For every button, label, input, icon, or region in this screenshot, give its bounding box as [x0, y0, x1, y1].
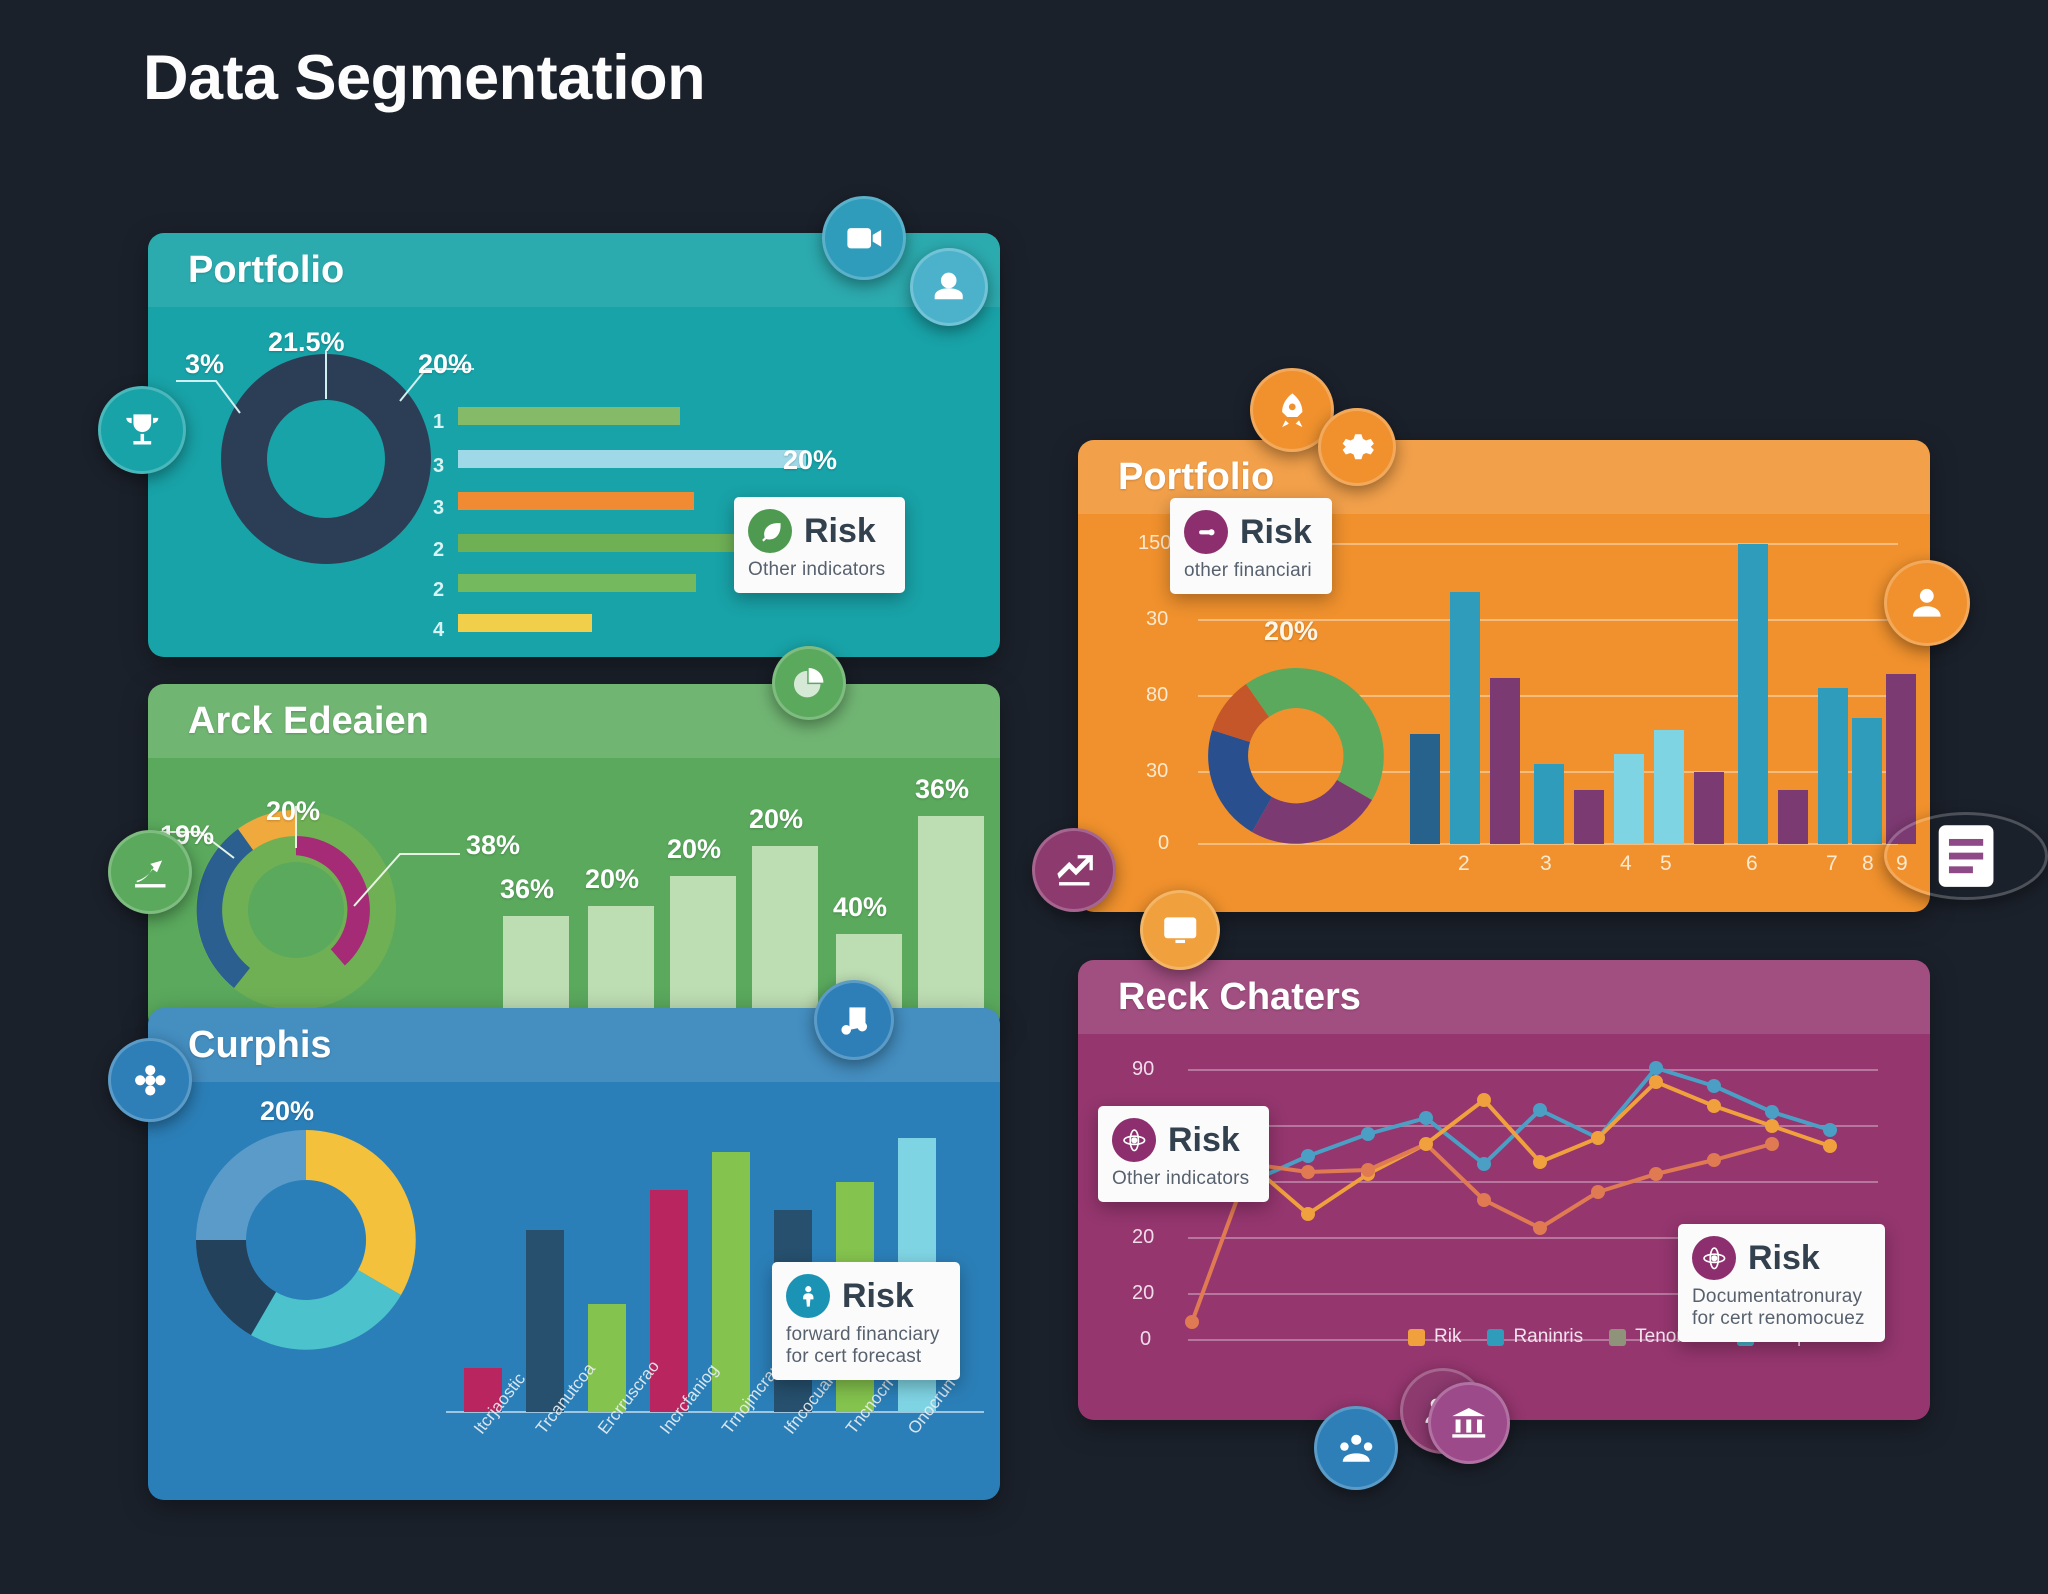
- globe-icon[interactable]: [910, 248, 988, 326]
- legend-swatch: [1609, 1329, 1626, 1346]
- tooltip-title: Risk: [804, 512, 876, 551]
- risk-tooltip[interactable]: Risk forward financiary for cert forecas…: [772, 1262, 960, 1380]
- bar-label-5: 40%: [833, 892, 887, 923]
- card-title: Curphis: [188, 1024, 332, 1067]
- risk-tooltip-right[interactable]: Risk Documentatronuray for cert renomocu…: [1678, 1224, 1885, 1342]
- tooltip-subtitle: Other indicators: [748, 559, 885, 581]
- card-portfolio-teal[interactable]: Portfolio 3% 21.5% 20% 1 3 3 2 2 4: [148, 233, 1000, 657]
- x-tick: 2: [1458, 852, 1470, 876]
- bar-label-2: 20%: [585, 864, 639, 895]
- legend-item[interactable]: Rik: [1408, 1326, 1461, 1348]
- user-icon[interactable]: [1884, 560, 1970, 646]
- card-curphis[interactable]: Curphis 20%: [148, 1008, 1000, 1500]
- card-body: 20% Itcrjaostic Trcanutcoa Ercrruscrao I…: [148, 1082, 1000, 1500]
- tooltip-subtitle: other financiari: [1184, 560, 1312, 582]
- card-arck-edeaien[interactable]: Arck Edeaien 19% 20% 38%: [148, 684, 1000, 1032]
- tooltip-title: Risk: [1748, 1239, 1820, 1278]
- teal-horizontal-bars: [148, 307, 1000, 657]
- music-icon[interactable]: [814, 980, 894, 1060]
- atom-icon: [1692, 1236, 1736, 1280]
- monitor-icon[interactable]: [1140, 890, 1220, 970]
- dashboard-canvas: Data Segmentation Portfolio 3% 21.5% 20%…: [0, 0, 2048, 1594]
- card-portfolio-orange[interactable]: Portfolio 150 30 80 30 0: [1078, 440, 1930, 912]
- legend-label: Rik: [1434, 1326, 1461, 1348]
- card-title: Arck Edeaien: [188, 700, 429, 743]
- card-header: Reck Chaters: [1078, 960, 1930, 1034]
- bar-label-6: 36%: [915, 774, 969, 805]
- x-tick: 7: [1826, 852, 1838, 876]
- x-tick: 3: [1540, 852, 1552, 876]
- tooltip-subtitle: forward financiary for cert forecast: [786, 1324, 940, 1368]
- video-icon[interactable]: [822, 196, 906, 280]
- leaf-icon: [748, 509, 792, 553]
- flower-icon[interactable]: [108, 1038, 192, 1122]
- x-tick: 6: [1746, 852, 1758, 876]
- legend-swatch: [1487, 1329, 1504, 1346]
- gear-icon[interactable]: [1318, 408, 1396, 486]
- bar-value-label: 20%: [783, 445, 837, 476]
- pie-chart-icon[interactable]: [772, 646, 846, 720]
- person-icon: [786, 1274, 830, 1318]
- legend-label: Raninris: [1513, 1326, 1583, 1348]
- card-body: 150 30 80 30 0 20%: [1078, 514, 1930, 912]
- tooltip-subtitle: Documentatronuray for cert renomocuez: [1692, 1286, 1865, 1330]
- page-title: Data Segmentation: [143, 42, 705, 114]
- card-title: Portfolio: [1118, 456, 1274, 499]
- card-body: 90 90 55 20 20 0: [1078, 1034, 1930, 1420]
- card-reck-chaters[interactable]: Reck Chaters 90 90 55 20 20 0: [1078, 960, 1930, 1420]
- growth-icon[interactable]: [108, 830, 192, 914]
- x-tick: 5: [1660, 852, 1672, 876]
- legend-item[interactable]: Raninris: [1487, 1326, 1583, 1348]
- trophy-icon[interactable]: [98, 386, 186, 474]
- atom-icon: [1112, 1118, 1156, 1162]
- tooltip-title: Risk: [842, 1277, 914, 1316]
- card-header: Arck Edeaien: [148, 684, 1000, 758]
- tooltip-title: Risk: [1168, 1121, 1240, 1160]
- legend-swatch: [1408, 1329, 1425, 1346]
- bank-icon[interactable]: [1428, 1382, 1510, 1464]
- card-title: Reck Chaters: [1118, 976, 1361, 1019]
- risk-tooltip[interactable]: Risk other financiari: [1170, 498, 1332, 594]
- tooltip-title: Risk: [1240, 513, 1312, 552]
- bar-label-3: 20%: [667, 834, 721, 865]
- tooltip-subtitle: Other indicators: [1112, 1168, 1249, 1190]
- card-body: 3% 21.5% 20% 1 3 3 2 2 4 20%: [148, 307, 1000, 657]
- risk-tooltip-left[interactable]: Risk Other indicators: [1098, 1106, 1269, 1202]
- bar-label-1: 36%: [500, 874, 554, 905]
- bar-label-4: 20%: [749, 804, 803, 835]
- minus-icon: [1184, 510, 1228, 554]
- x-tick: 8: [1862, 852, 1874, 876]
- x-tick: 4: [1620, 852, 1632, 876]
- card-title: Portfolio: [188, 249, 344, 292]
- chart-up-icon[interactable]: [1032, 828, 1116, 912]
- list-icon[interactable]: [1884, 812, 2048, 900]
- group-icon[interactable]: [1314, 1406, 1398, 1490]
- risk-tooltip[interactable]: Risk Other indicators: [734, 497, 905, 593]
